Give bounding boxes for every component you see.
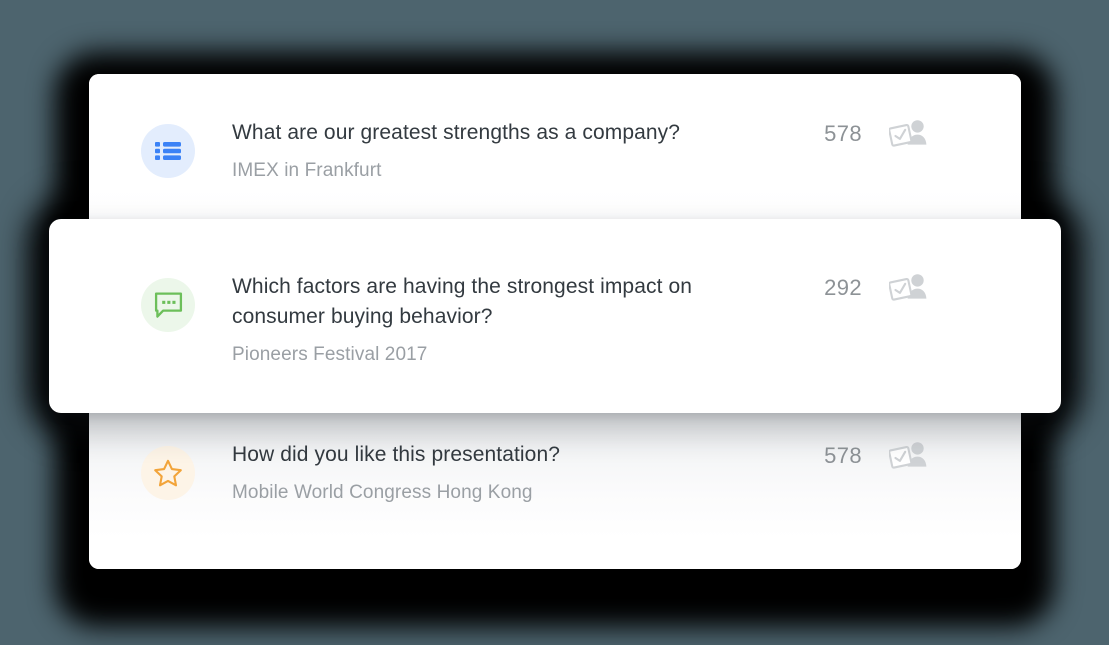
respondents-count: 292 <box>814 275 862 301</box>
question-title: What are our greatest strengths as a com… <box>232 118 702 148</box>
chat-bubble-icon <box>141 278 195 332</box>
list-item-text: What are our greatest strengths as a com… <box>232 118 814 184</box>
list-item-text: How did you like this presentation? Mobi… <box>232 440 814 506</box>
respondents-count: 578 <box>814 121 862 147</box>
list-item-elevated[interactable]: Which factors are having the strongest i… <box>49 219 1061 413</box>
list-item-text: Which factors are having the strongest i… <box>232 272 814 368</box>
respondents-meta: 578 <box>814 119 927 149</box>
question-event: IMEX in Frankfurt <box>232 158 814 184</box>
respondents-meta: 578 <box>814 441 927 471</box>
respondents-icon <box>889 273 927 303</box>
respondents-meta: 292 <box>814 273 927 303</box>
respondents-count: 578 <box>814 443 862 469</box>
list-item[interactable]: How did you like this presentation? Mobi… <box>89 413 1021 569</box>
question-event: Pioneers Festival 2017 <box>232 342 814 368</box>
respondents-icon <box>889 441 927 471</box>
respondents-icon <box>889 119 927 149</box>
question-title: How did you like this presentation? <box>232 440 702 470</box>
question-title: Which factors are having the strongest i… <box>232 272 702 332</box>
list-icon <box>141 124 195 178</box>
star-icon <box>141 446 195 500</box>
question-event: Mobile World Congress Hong Kong <box>232 480 814 506</box>
